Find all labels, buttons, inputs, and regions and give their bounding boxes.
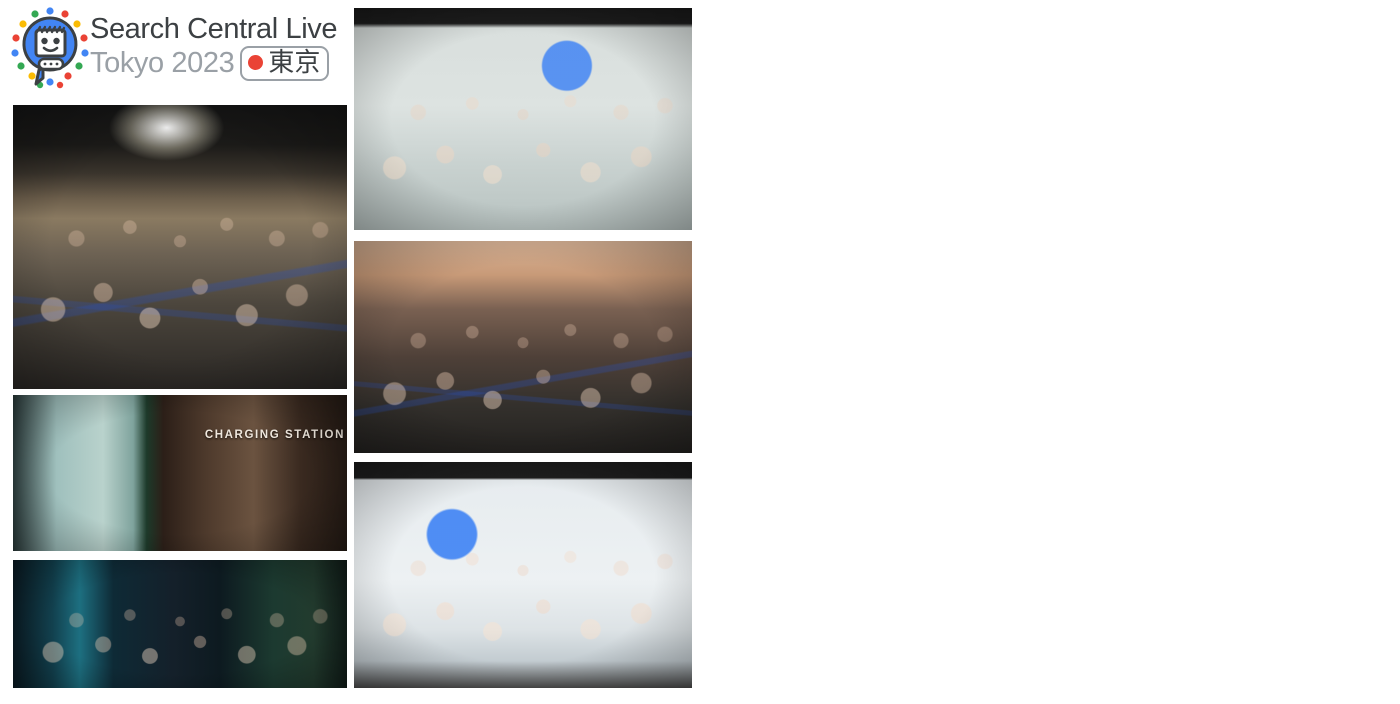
- photo-vignette: [13, 395, 347, 551]
- search-central-live-mascot-icon: [10, 6, 90, 90]
- tokyo-section: Search Central Live Tokyo 2023 東京 Large …: [0, 0, 700, 704]
- photo-vignette: [13, 105, 347, 389]
- tokyo-badge-text: 東京: [268, 49, 320, 76]
- jakarta-section: Search Central Live Jakarta 2023 Search …: [700, 0, 1400, 704]
- photo-collage-board: Search Central Live Tokyo 2023 東京 Large …: [0, 0, 1400, 704]
- tokyo-event-header: Search Central Live Tokyo 2023 東京: [10, 6, 337, 90]
- tokyo-group-audience-photo: Large seated audience group photo in Tok…: [13, 105, 347, 389]
- photo-vignette: [13, 560, 347, 688]
- tokyo-japanese-badge: 東京: [240, 46, 329, 80]
- tokyo-title-sub: Tokyo 2023: [90, 49, 234, 78]
- tokyo-title-block: Search Central Live Tokyo 2023 東京: [90, 15, 337, 80]
- photo-vignette: [354, 241, 692, 453]
- tokyo-charging-station-photo: CHARGING STATION Attendees exchanging it…: [13, 395, 347, 551]
- japan-flag-dot-icon: [248, 55, 263, 70]
- charging-station-sign-text: CHARGING STATION: [205, 429, 345, 441]
- photo-vignette: [354, 462, 692, 688]
- tokyo-panel-stage-photo: Four-person panel on stage with mascot s…: [354, 462, 692, 688]
- tokyo-networking-photo: Attendees with drinks at evening network…: [13, 560, 347, 688]
- tokyo-heart-hands-photo: Two attendees making a heart shape with …: [354, 241, 692, 453]
- photo-vignette: [354, 8, 692, 230]
- tokyo-yukata-stage-photo: Speaker in yukata on stage waving to aud…: [354, 8, 692, 230]
- tokyo-title-main: Search Central Live: [90, 15, 337, 44]
- tokyo-subtitle-row: Tokyo 2023 東京: [90, 46, 337, 80]
